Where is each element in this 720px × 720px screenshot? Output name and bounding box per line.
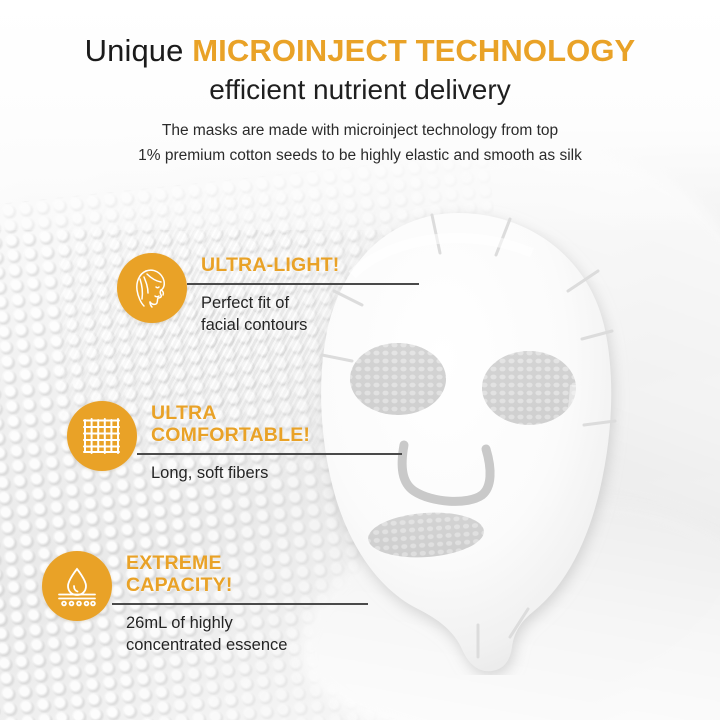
feature-ultra-comfortable-body: ULTRA COMFORTABLE! Long, soft fibers — [151, 401, 402, 484]
feature-extreme-capacity-body: EXTREME CAPACITY! 26mL of highly concent… — [126, 551, 368, 656]
description-line-2: 1% premium cotton seeds to be highly ela… — [0, 143, 720, 168]
feature-divider — [137, 453, 402, 455]
description-text: The masks are made with microinject tech… — [0, 118, 720, 168]
feature-divider — [187, 283, 419, 285]
page-subtitle-headline: efficient nutrient delivery — [0, 73, 720, 107]
woman-face-profile-icon — [117, 253, 187, 323]
headline-block: Unique MICROINJECT TECHNOLOGY efficient … — [0, 34, 720, 169]
feature-extreme-capacity-heading: EXTREME CAPACITY! — [126, 553, 368, 597]
feature-ultra-comfortable: ULTRA COMFORTABLE! Long, soft fibers — [67, 401, 402, 484]
feature-ultra-light-heading: ULTRA-LIGHT! — [201, 255, 419, 277]
feature-ultra-light-description: Perfect fit of facial contours — [201, 292, 419, 336]
feature-ultra-comfortable-heading: ULTRA COMFORTABLE! — [151, 403, 402, 447]
woven-mesh-grid-icon — [67, 401, 137, 471]
feature-ultra-light: ULTRA-LIGHT! Perfect fit of facial conto… — [117, 253, 419, 336]
feature-extreme-capacity: EXTREME CAPACITY! 26mL of highly concent… — [42, 551, 368, 656]
feature-ultra-light-body: ULTRA-LIGHT! Perfect fit of facial conto… — [201, 253, 419, 336]
title-prefix: Unique — [85, 33, 184, 68]
infographic-page: Unique MICROINJECT TECHNOLOGY efficient … — [0, 0, 720, 720]
title-accent: MICROINJECT TECHNOLOGY — [192, 33, 635, 68]
description-line-1: The masks are made with microinject tech… — [0, 118, 720, 143]
feature-extreme-capacity-description: 26mL of highly concentrated essence — [126, 612, 368, 656]
page-title: Unique MICROINJECT TECHNOLOGY — [0, 34, 720, 69]
feature-divider — [112, 603, 368, 605]
feature-ultra-comfortable-description: Long, soft fibers — [151, 462, 402, 484]
water-droplet-absorption-icon — [42, 551, 112, 621]
